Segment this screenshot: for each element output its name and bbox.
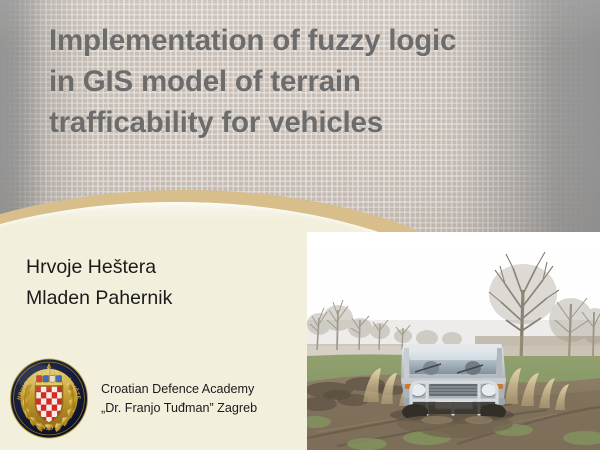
slide-title: Implementation of fuzzy logic in GIS mod… (49, 20, 579, 143)
institution-caption: Croatian Defence Academy „Dr. Franjo Tuđ… (101, 380, 311, 418)
croatian-defence-academy-emblem-icon: HRVATSKO VOJNO UČILIŠTE DR. FRANJO TUĐMA… (9, 358, 89, 439)
title-slide: Implementation of fuzzy logic in GIS mod… (0, 0, 600, 450)
author-list: Hrvoje Heštera Mladen Pahernik (26, 252, 286, 314)
offroad-vehicle-photo (307, 232, 600, 450)
